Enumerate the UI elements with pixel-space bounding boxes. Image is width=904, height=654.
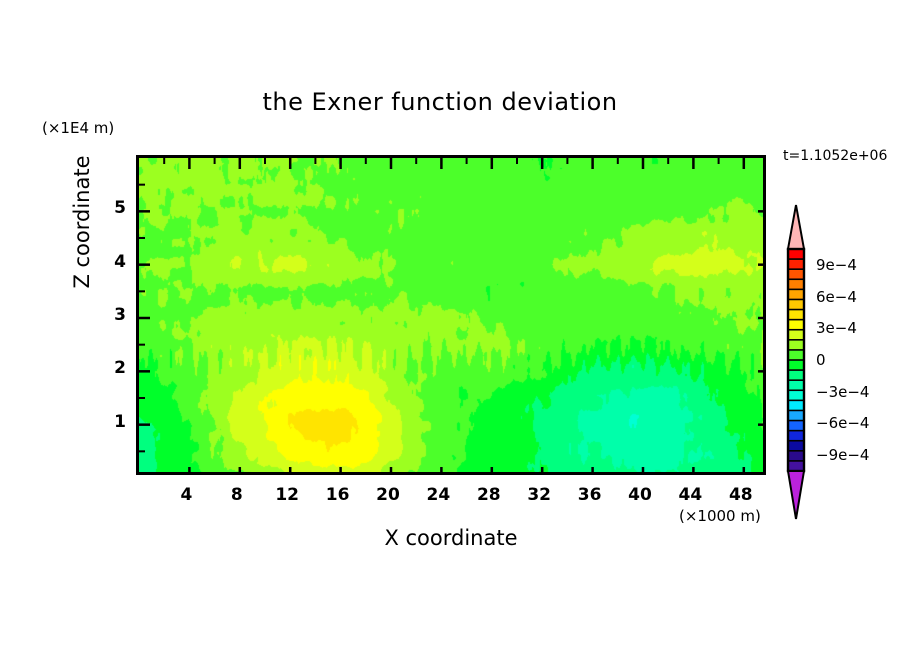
x-tick-label: 20 [376,485,400,505]
colorbar-tick-label: 6e−4 [816,288,857,306]
y-tick-label: 5 [98,198,126,218]
x-tick-label: 36 [578,485,602,505]
x-tick-label: 32 [527,485,551,505]
timestamp-label: t=1.1052e+06 [783,148,887,164]
x-tick-label: 24 [427,485,451,505]
x-axis-title: X coordinate [136,526,766,550]
colorbar-tick-label: −3e−4 [816,383,869,401]
colorbar[interactable] [781,203,811,523]
x-tick-label: 48 [729,485,753,505]
x-axis-unit-label: (×1000 m) [679,507,761,525]
y-tick-label: 4 [98,252,126,272]
x-tick-label: 12 [275,485,299,505]
y-tick-label: 1 [98,412,126,432]
x-tick-label: 28 [477,485,501,505]
colorbar-tick-label: 9e−4 [816,256,857,274]
plot-area[interactable] [136,155,766,475]
x-tick-label: 4 [180,485,192,505]
y-axis-title: Z coordinate [70,92,94,352]
colorbar-gradient [781,203,811,523]
y-tick-label: 2 [98,358,126,378]
contour-field [139,158,766,475]
x-tick-label: 8 [231,485,243,505]
colorbar-tick-label: 3e−4 [816,319,857,337]
y-tick-label: 3 [98,305,126,325]
figure-canvas: the Exner function deviation (×1E4 m) Z … [0,0,904,654]
x-tick-label: 16 [326,485,350,505]
x-tick-label: 44 [679,485,703,505]
x-tick-label: 40 [628,485,652,505]
colorbar-tick-label: 0 [816,351,826,369]
page-title: the Exner function deviation [30,88,850,116]
colorbar-tick-label: −9e−4 [816,446,869,464]
colorbar-tick-label: −6e−4 [816,414,869,432]
